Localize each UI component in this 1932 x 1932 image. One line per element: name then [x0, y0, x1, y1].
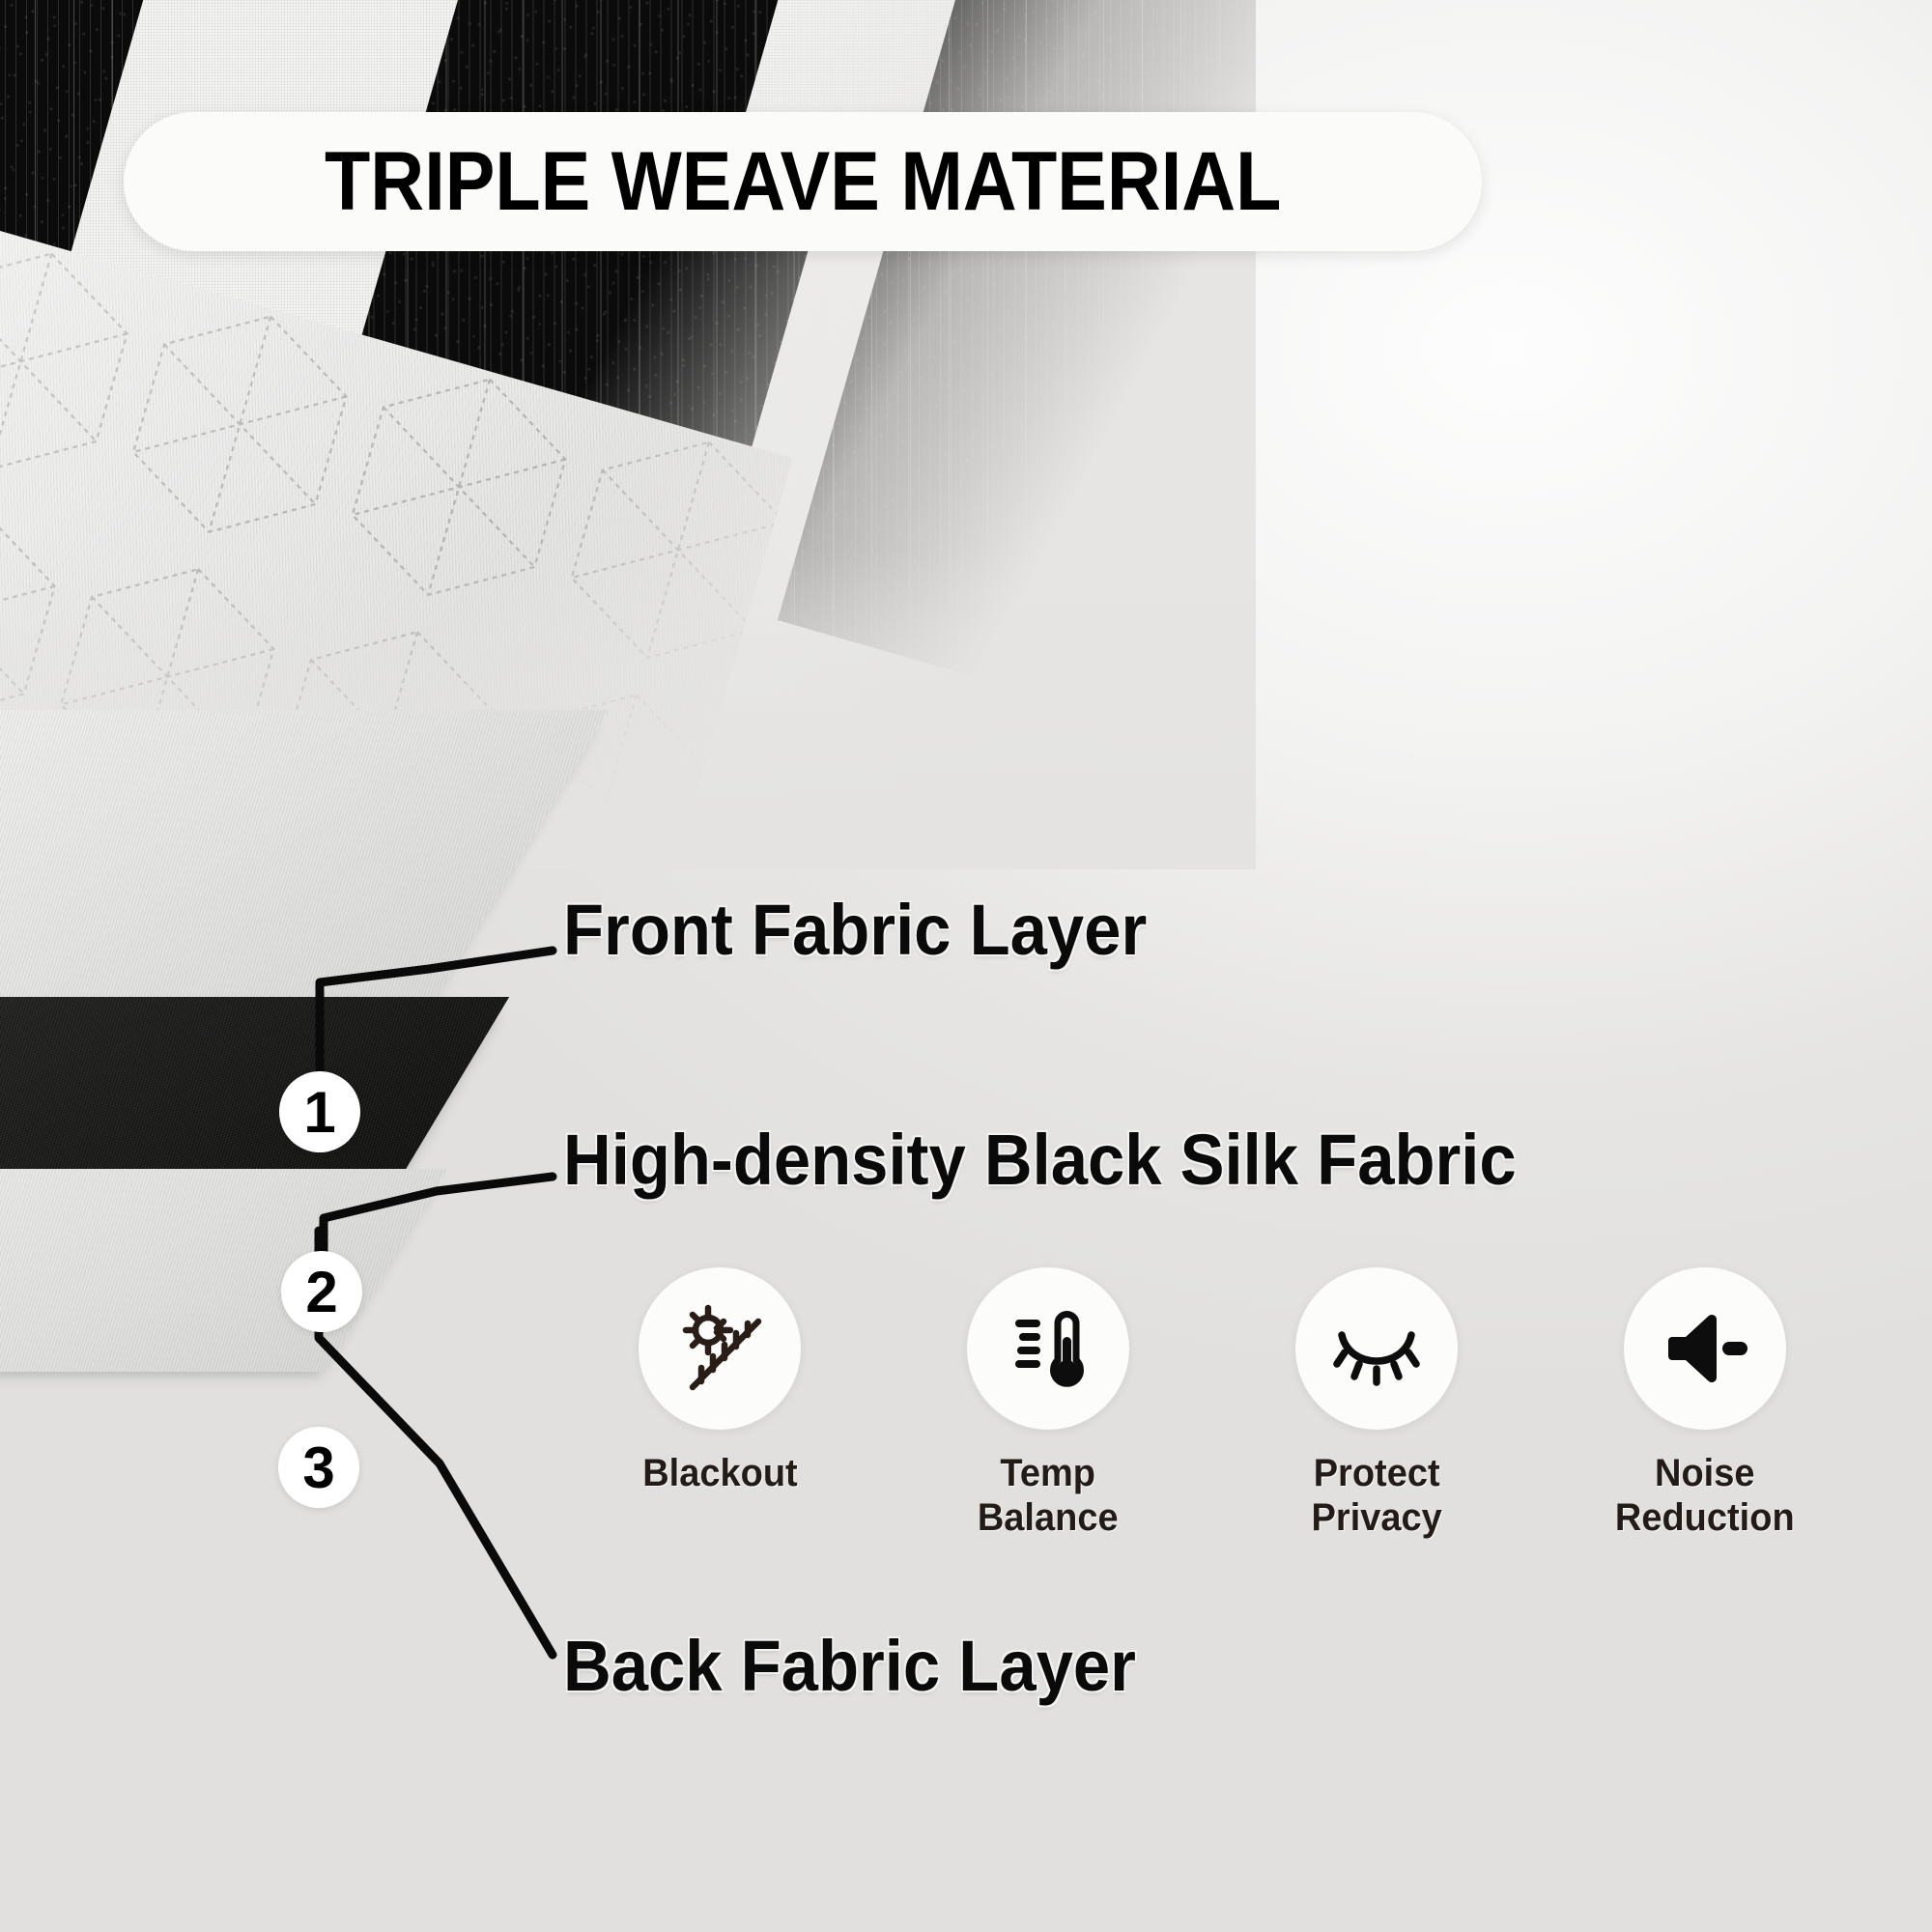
layer-badge-2-number: 2	[305, 1259, 337, 1325]
feature-temp-balance-circle	[967, 1267, 1129, 1430]
feature-blackout-circle	[639, 1267, 801, 1430]
feature-noise-reduction-label-line1: Noise	[1615, 1451, 1795, 1495]
feature-noise-reduction-circle	[1624, 1267, 1786, 1430]
feature-temp-balance-label: Temp Balance	[978, 1451, 1119, 1541]
feature-protect-privacy-label-line1: Protect	[1311, 1451, 1441, 1495]
feature-temp-balance-label-line1: Temp	[978, 1451, 1119, 1495]
layer-badge-2: 2	[281, 1251, 362, 1332]
thermometer-icon	[998, 1298, 1098, 1399]
layer-badge-1: 1	[279, 1071, 360, 1152]
feature-noise-reduction-label: Noise Reduction	[1615, 1451, 1795, 1541]
callout-label-black-silk: High-density Black Silk Fabric	[563, 1119, 1517, 1201]
feature-protect-privacy-label: Protect Privacy	[1311, 1451, 1441, 1541]
callout-label-front-fabric: Front Fabric Layer	[563, 889, 1147, 971]
page-title: TRIPLE WEAVE MATERIAL	[325, 140, 1281, 223]
feature-protect-privacy-circle	[1295, 1267, 1458, 1430]
speaker-minus-icon	[1655, 1298, 1755, 1399]
feature-noise-reduction-label-line2: Reduction	[1615, 1495, 1795, 1540]
layer-badge-3: 3	[278, 1427, 359, 1508]
callout-label-back-fabric: Back Fabric Layer	[563, 1625, 1136, 1707]
feature-noise-reduction[interactable]: Noise Reduction	[1541, 1267, 1869, 1541]
layer-badge-1-number: 1	[303, 1079, 335, 1146]
sun-blind-icon	[669, 1298, 770, 1399]
feature-blackout-label-line1: Blackout	[642, 1451, 797, 1495]
feature-blackout[interactable]: Blackout	[555, 1267, 884, 1541]
feature-temp-balance[interactable]: Temp Balance	[884, 1267, 1212, 1541]
feature-blackout-label: Blackout	[642, 1451, 797, 1495]
closed-eye-icon	[1326, 1298, 1427, 1399]
title-banner: TRIPLE WEAVE MATERIAL	[124, 112, 1482, 251]
feature-protect-privacy-label-line2: Privacy	[1311, 1495, 1441, 1540]
feature-temp-balance-label-line2: Balance	[978, 1495, 1119, 1540]
feature-strip: Blackout	[555, 1267, 1869, 1541]
feature-protect-privacy[interactable]: Protect Privacy	[1212, 1267, 1541, 1541]
layer-badge-3-number: 3	[302, 1435, 334, 1501]
infographic-canvas: TRIPLE WEAVE MATERIAL 1 2 3 Front Fabric…	[0, 0, 1932, 1932]
